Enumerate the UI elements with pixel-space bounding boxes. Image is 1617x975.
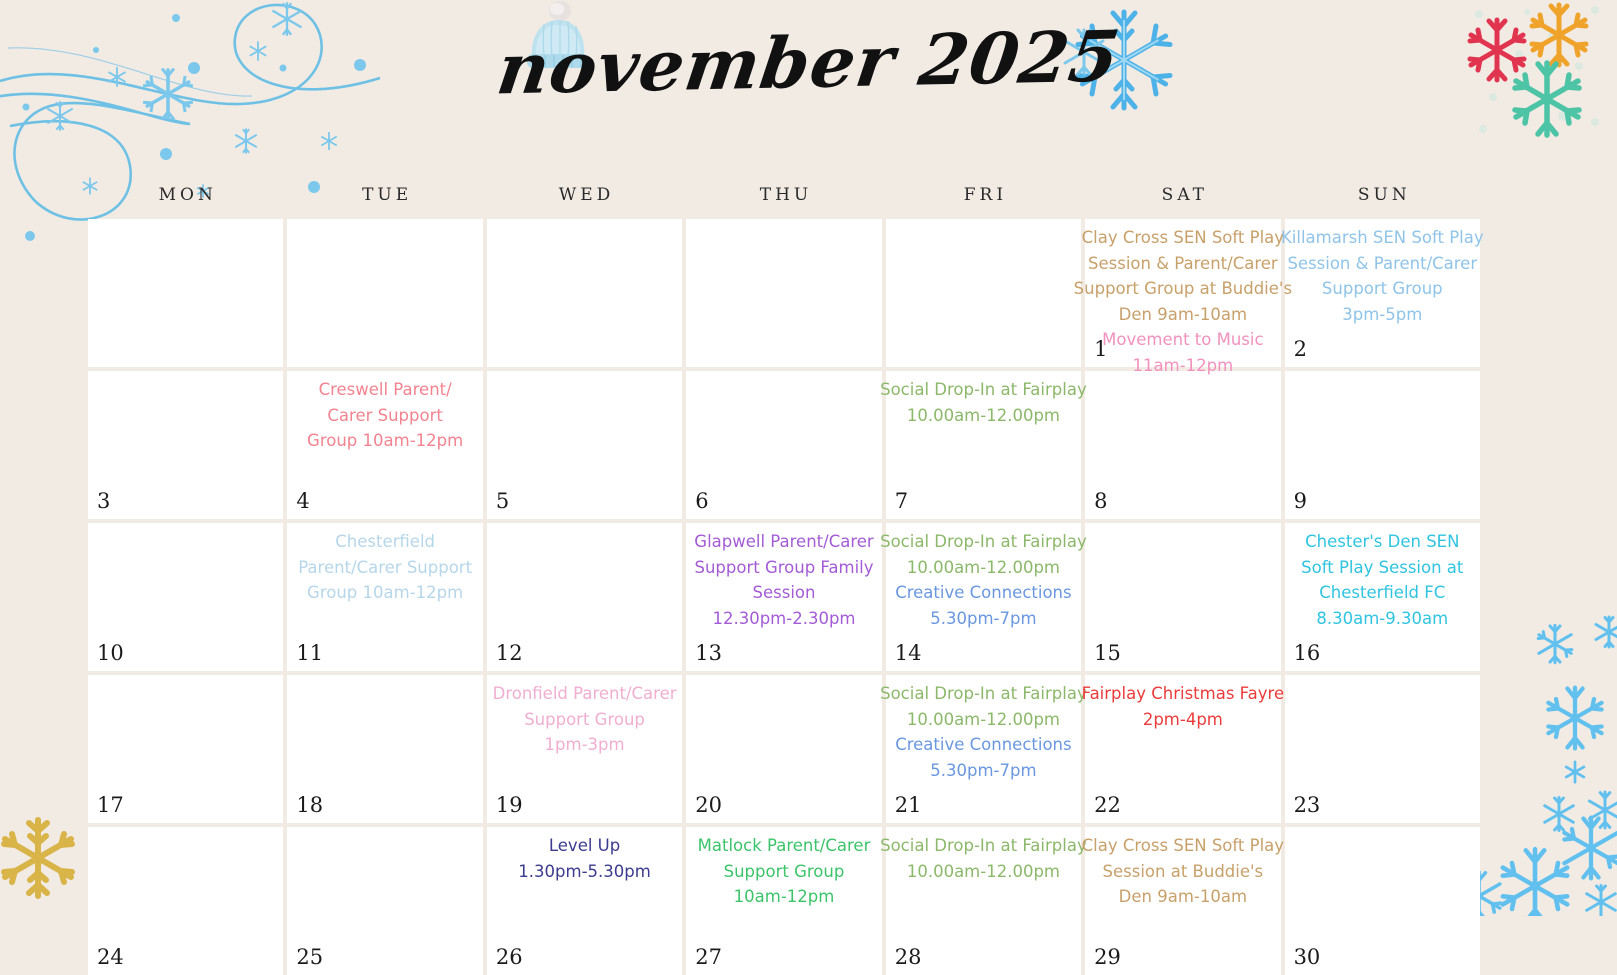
event-text-line[interactable]: Creswell Parent/ (319, 377, 452, 403)
event-list: Social Drop-In at Fairplay10.00am-12.00p… (880, 833, 1087, 884)
event-text-line[interactable]: Creative Connections (895, 580, 1071, 606)
event-text-line[interactable]: 3pm-5pm (1342, 302, 1422, 328)
day-cell-30[interactable]: 30 (1285, 827, 1480, 975)
day-number: 17 (97, 795, 124, 816)
day-number: 18 (296, 795, 323, 816)
event-text-line[interactable]: Social Drop-In at Fairplay (880, 377, 1087, 403)
day-cell-8[interactable]: 8 (1085, 371, 1280, 519)
day-number: 1 (1094, 339, 1107, 360)
day-cell-empty[interactable] (88, 219, 283, 367)
day-cell-empty[interactable] (287, 219, 482, 367)
event-text-line[interactable]: Session & Parent/Carer (1088, 251, 1278, 277)
event-text-line[interactable]: Session (753, 580, 816, 606)
calendar-weeks: 1Clay Cross SEN Soft PlaySession & Paren… (88, 219, 1480, 975)
calendar-week-row: 1011ChesterfieldParent/Carer SupportGrou… (88, 523, 1480, 671)
day-cell-19[interactable]: 19Dronfield Parent/CarerSupport Group1pm… (487, 675, 682, 823)
event-text-line[interactable]: Fairplay Christmas Fayre (1082, 681, 1285, 707)
day-cell-13[interactable]: 13Glapwell Parent/CarerSupport Group Fam… (686, 523, 881, 671)
day-number: 11 (296, 643, 323, 664)
day-number: 28 (895, 947, 922, 968)
event-text-line[interactable]: Social Drop-In at Fairplay (880, 681, 1087, 707)
day-number: 22 (1094, 795, 1121, 816)
event-text-line[interactable]: Chesterfield FC (1319, 580, 1445, 606)
day-cell-16[interactable]: 16Chester's Den SENSoft Play Session atC… (1285, 523, 1480, 671)
weekday-header-thu: THU (686, 185, 881, 205)
event-list: Creswell Parent/Carer SupportGroup 10am-… (281, 377, 488, 454)
day-number: 7 (895, 491, 908, 512)
event-list: Clay Cross SEN Soft PlaySession at Buddi… (1079, 833, 1286, 910)
page-title: november 2025 (493, 20, 1124, 106)
calendar-header: november 2025 (0, 26, 1617, 100)
day-number: 5 (496, 491, 509, 512)
day-cell-26[interactable]: 26Level Up1.30pm-5.30pm (487, 827, 682, 975)
event-text-line[interactable]: Support Group Family (694, 555, 873, 581)
day-number: 27 (695, 947, 722, 968)
day-cell-empty[interactable] (886, 219, 1081, 367)
day-number: 25 (296, 947, 323, 968)
day-number: 24 (97, 947, 124, 968)
weekday-header-wed: WED (487, 185, 682, 205)
event-text-line[interactable]: Creative Connections (895, 732, 1071, 758)
day-cell-1[interactable]: 1Clay Cross SEN Soft PlaySession & Paren… (1085, 219, 1280, 367)
event-text-line[interactable]: Session at Buddie's (1103, 859, 1264, 885)
event-list: Matlock Parent/CarerSupport Group10am-12… (680, 833, 887, 910)
event-text-line[interactable]: Session & Parent/Carer (1287, 251, 1477, 277)
calendar-week-row: 34Creswell Parent/Carer SupportGroup 10a… (88, 371, 1480, 519)
day-cell-27[interactable]: 27Matlock Parent/CarerSupport Group10am-… (686, 827, 881, 975)
weekday-header-mon: MON (88, 185, 283, 205)
calendar-week-row: 242526Level Up1.30pm-5.30pm27Matlock Par… (88, 827, 1480, 975)
event-text-line[interactable]: Killamarsh SEN Soft Play (1281, 225, 1484, 251)
calendar-grid: MONTUEWEDTHUFRISATSUN 1Clay Cross SEN So… (88, 185, 1480, 975)
event-text-line[interactable]: 10.00am-12.00pm (907, 707, 1060, 733)
day-cell-2[interactable]: 2Killamarsh SEN Soft PlaySession & Paren… (1285, 219, 1480, 367)
event-text-line[interactable]: 5.30pm-7pm (930, 606, 1036, 632)
day-cell-22[interactable]: 22Fairplay Christmas Fayre2pm-4pm (1085, 675, 1280, 823)
event-text-line[interactable]: 10.00am-12.00pm (907, 859, 1060, 885)
day-number: 14 (895, 643, 922, 664)
day-number: 26 (496, 947, 523, 968)
calendar-week-row: 171819Dronfield Parent/CarerSupport Grou… (88, 675, 1480, 823)
event-text-line[interactable]: 1pm-3pm (545, 732, 625, 758)
event-text-line[interactable]: Matlock Parent/Carer (698, 833, 871, 859)
day-cell-empty[interactable] (686, 219, 881, 367)
event-list: Level Up1.30pm-5.30pm (481, 833, 688, 884)
event-text-line[interactable]: Carer Support (327, 403, 442, 429)
day-number: 30 (1294, 947, 1321, 968)
weekday-header-fri: FRI (886, 185, 1081, 205)
event-text-line[interactable]: Support Group (724, 859, 845, 885)
event-list: Social Drop-In at Fairplay10.00am-12.00p… (880, 377, 1087, 428)
event-list: Social Drop-In at Fairplay10.00am-12.00p… (880, 681, 1087, 783)
event-text-line[interactable]: 1.30pm-5.30pm (518, 859, 651, 885)
day-cell-28[interactable]: 28Social Drop-In at Fairplay10.00am-12.0… (886, 827, 1081, 975)
day-cell-9[interactable]: 9 (1285, 371, 1480, 519)
day-cell-21[interactable]: 21Social Drop-In at Fairplay10.00am-12.0… (886, 675, 1081, 823)
day-number: 8 (1094, 491, 1107, 512)
day-number: 21 (895, 795, 922, 816)
day-cell-4[interactable]: 4Creswell Parent/Carer SupportGroup 10am… (287, 371, 482, 519)
day-number: 6 (695, 491, 708, 512)
event-text-line[interactable]: Soft Play Session at (1301, 555, 1463, 581)
event-text-line[interactable]: Support Group (1322, 276, 1443, 302)
event-list: Glapwell Parent/CarerSupport Group Famil… (680, 529, 887, 631)
weekday-header-sat: SAT (1085, 185, 1280, 205)
weekday-header-row: MONTUEWEDTHUFRISATSUN (88, 185, 1480, 205)
day-cell-23[interactable]: 23 (1285, 675, 1480, 823)
day-number: 12 (496, 643, 523, 664)
event-text-line[interactable]: 10.00am-12.00pm (907, 403, 1060, 429)
day-cell-3[interactable]: 3 (88, 371, 283, 519)
event-text-line[interactable]: 11am-12pm (1133, 353, 1234, 379)
event-text-line[interactable]: Clay Cross SEN Soft Play (1082, 225, 1284, 251)
day-number: 13 (695, 643, 722, 664)
day-number: 3 (97, 491, 110, 512)
day-number: 23 (1294, 795, 1321, 816)
day-number: 20 (695, 795, 722, 816)
event-list: ChesterfieldParent/Carer SupportGroup 10… (281, 529, 488, 606)
event-text-line[interactable]: Glapwell Parent/Carer (694, 529, 873, 555)
event-text-line[interactable]: 8.30am-9.30am (1316, 606, 1448, 632)
event-list: Chester's Den SENSoft Play Session atChe… (1279, 529, 1486, 631)
day-cell-12[interactable]: 12 (487, 523, 682, 671)
day-number: 9 (1294, 491, 1307, 512)
day-cell-14[interactable]: 14Social Drop-In at Fairplay10.00am-12.0… (886, 523, 1081, 671)
event-list: Killamarsh SEN Soft PlaySession & Parent… (1279, 225, 1486, 327)
day-cell-24[interactable]: 24 (88, 827, 283, 975)
event-text-line[interactable]: Den 9am-10am (1119, 302, 1247, 328)
weekday-header-sun: SUN (1285, 185, 1480, 205)
event-text-line[interactable]: Social Drop-In at Fairplay (880, 529, 1087, 555)
day-cell-11[interactable]: 11ChesterfieldParent/Carer SupportGroup … (287, 523, 482, 671)
event-text-line[interactable]: Group 10am-12pm (307, 580, 463, 606)
event-text-line[interactable]: 5.30pm-7pm (930, 758, 1036, 784)
day-cell-empty[interactable] (487, 219, 682, 367)
event-list: Dronfield Parent/CarerSupport Group1pm-3… (481, 681, 688, 758)
day-number: 15 (1094, 643, 1121, 664)
event-text-line[interactable]: 12.30pm-2.30pm (712, 606, 855, 632)
event-text-line[interactable]: 2pm-4pm (1143, 707, 1223, 733)
day-cell-7[interactable]: 7Social Drop-In at Fairplay10.00am-12.00… (886, 371, 1081, 519)
day-cell-17[interactable]: 17 (88, 675, 283, 823)
day-number: 19 (496, 795, 523, 816)
day-number: 10 (97, 643, 124, 664)
event-text-line[interactable]: Group 10am-12pm (307, 428, 463, 454)
weekday-header-tue: TUE (287, 185, 482, 205)
day-cell-6[interactable]: 6 (686, 371, 881, 519)
event-text-line[interactable]: Support Group (524, 707, 645, 733)
event-text-line[interactable]: Social Drop-In at Fairplay (880, 833, 1087, 859)
day-cell-20[interactable]: 20 (686, 675, 881, 823)
event-text-line[interactable]: Chester's Den SEN (1305, 529, 1459, 555)
day-cell-10[interactable]: 10 (88, 523, 283, 671)
event-text-line[interactable]: Chesterfield (335, 529, 435, 555)
day-number: 29 (1094, 947, 1121, 968)
event-text-line[interactable]: Clay Cross SEN Soft Play (1082, 833, 1284, 859)
event-text-line[interactable]: Dronfield Parent/Carer (493, 681, 677, 707)
day-number: 2 (1294, 339, 1307, 360)
calendar-week-row: 1Clay Cross SEN Soft PlaySession & Paren… (88, 219, 1480, 367)
event-list: Clay Cross SEN Soft PlaySession & Parent… (1079, 225, 1286, 378)
event-text-line[interactable]: Movement to Music (1102, 327, 1263, 353)
event-text-line[interactable]: Support Group at Buddie's (1074, 276, 1292, 302)
day-number: 4 (296, 491, 309, 512)
event-text-line[interactable]: Parent/Carer Support (298, 555, 472, 581)
day-number: 16 (1294, 643, 1321, 664)
event-text-line[interactable]: Level Up (549, 833, 620, 859)
event-text-line[interactable]: 10.00am-12.00pm (907, 555, 1060, 581)
day-cell-5[interactable]: 5 (487, 371, 682, 519)
event-list: Social Drop-In at Fairplay10.00am-12.00p… (880, 529, 1087, 631)
event-list: Fairplay Christmas Fayre2pm-4pm (1079, 681, 1286, 732)
day-cell-18[interactable]: 18 (287, 675, 482, 823)
day-cell-25[interactable]: 25 (287, 827, 482, 975)
day-cell-15[interactable]: 15 (1085, 523, 1280, 671)
day-cell-29[interactable]: 29Clay Cross SEN Soft PlaySession at Bud… (1085, 827, 1280, 975)
